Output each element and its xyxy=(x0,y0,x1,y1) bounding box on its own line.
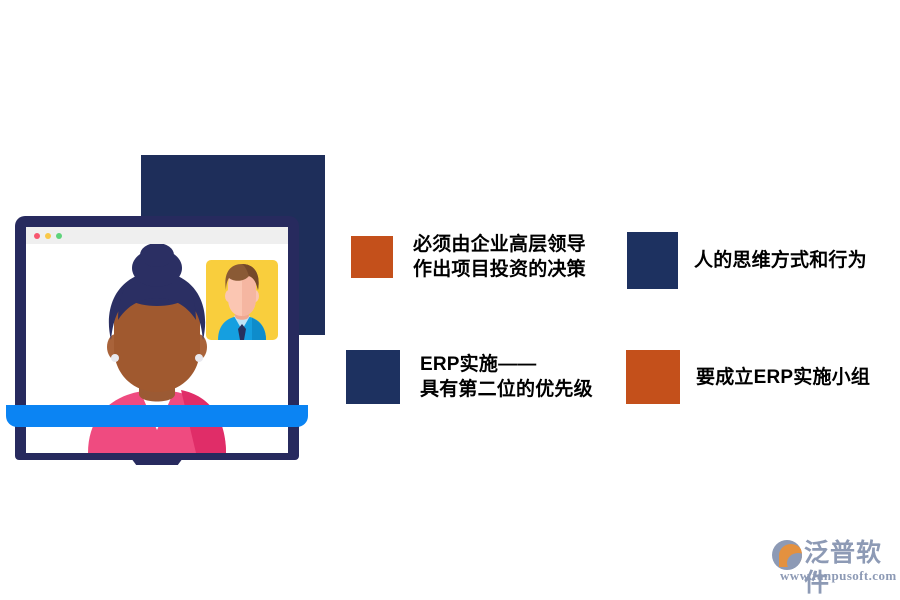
video-participant-inset-tile xyxy=(206,260,278,340)
bullet-item-2[interactable]: 人的思维方式和行为 xyxy=(627,232,867,289)
browser-title-bar xyxy=(26,227,288,244)
laptop-hinge-notch xyxy=(131,458,183,465)
fanpu-logo-icon xyxy=(772,540,802,570)
browser-minimize-dot-icon xyxy=(45,233,51,239)
video-participant-man-avatar xyxy=(206,260,278,340)
laptop-base xyxy=(6,405,308,427)
bullet-swatch-2 xyxy=(627,232,678,289)
bullet-label-2: 人的思维方式和行为 xyxy=(694,248,867,273)
watermark: 泛普软件 www.fanpusoft.com xyxy=(770,538,892,584)
bullet-swatch-4 xyxy=(626,350,680,404)
bullet-item-3[interactable]: ERP实施—— 具有第二位的优先级 xyxy=(346,350,593,404)
browser-maximize-dot-icon xyxy=(56,233,62,239)
bullet-label-1: 必须由企业高层领导 作出项目投资的决策 xyxy=(413,232,586,282)
browser-close-dot-icon xyxy=(34,233,40,239)
bullet-list: 必须由企业高层领导 作出项目投资的决策 人的思维方式和行为 ERP实施—— 具有… xyxy=(340,220,900,415)
video-call-illustration xyxy=(0,140,340,440)
bullet-swatch-1 xyxy=(351,236,393,278)
watermark-url: www.fanpusoft.com xyxy=(780,568,897,584)
bullet-swatch-3 xyxy=(346,350,400,404)
bullet-item-1[interactable]: 必须由企业高层领导 作出项目投资的决策 xyxy=(351,232,586,282)
bullet-label-4: 要成立ERP实施小组 xyxy=(696,365,870,390)
bullet-label-3: ERP实施—— 具有第二位的优先级 xyxy=(420,352,593,402)
bullet-item-4[interactable]: 要成立ERP实施小组 xyxy=(626,350,870,404)
